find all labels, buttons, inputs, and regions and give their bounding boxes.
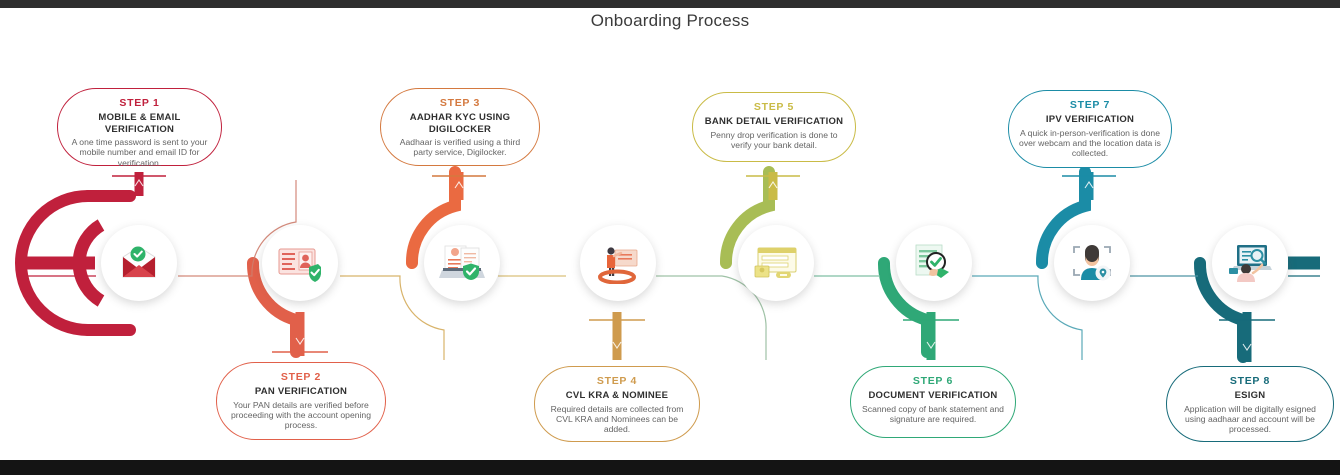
- step-title: MOBILE & EMAIL VERIFICATION: [68, 112, 211, 135]
- bottom-dark-bar: [0, 460, 1340, 475]
- step-label: STEP 4: [545, 375, 689, 387]
- step-callout-8[interactable]: STEP 8 ESIGN Application will be digital…: [1166, 366, 1334, 442]
- step-icon-2[interactable]: [262, 225, 338, 301]
- step-callout-6[interactable]: STEP 6 DOCUMENT VERIFICATION Scanned cop…: [850, 366, 1016, 438]
- step-callout-1[interactable]: STEP 1 MOBILE & EMAIL VERIFICATION A one…: [57, 88, 222, 166]
- step-callout-2[interactable]: STEP 2 PAN VERIFICATION Your PAN details…: [216, 362, 386, 440]
- step-title: AADHAR KYC USING DIGILOCKER: [391, 112, 529, 135]
- step-description: Aadhaar is verified using a third party …: [391, 137, 529, 158]
- step-icon-6[interactable]: [896, 225, 972, 301]
- step-description: Scanned copy of bank statement and signa…: [861, 404, 1005, 425]
- step-title: CVL KRA & NOMINEE: [545, 390, 689, 402]
- step-label: STEP 2: [227, 371, 375, 383]
- face-scan-location-icon: [1069, 242, 1115, 284]
- laptop-esign-search-icon: [1226, 242, 1274, 284]
- bank-form-icon: [752, 244, 800, 282]
- step-icon-3[interactable]: [424, 225, 500, 301]
- step-title: DOCUMENT VERIFICATION: [861, 390, 1005, 402]
- step-callout-4[interactable]: STEP 4 CVL KRA & NOMINEE Required detail…: [534, 366, 700, 442]
- step-title: ESIGN: [1177, 390, 1323, 402]
- envelope-check-icon: [117, 243, 161, 283]
- step-label: STEP 7: [1019, 99, 1161, 111]
- step-callout-5[interactable]: STEP 5 BANK DETAIL VERIFICATION Penny dr…: [692, 92, 856, 162]
- step-description: A one time password is sent to your mobi…: [68, 137, 211, 168]
- laptop-document-shield-icon: [437, 242, 487, 284]
- step-title: IPV VERIFICATION: [1019, 114, 1161, 126]
- step-icon-8[interactable]: [1212, 225, 1288, 301]
- step-icon-7[interactable]: [1054, 225, 1130, 301]
- step-label: STEP 1: [68, 97, 211, 109]
- step-description: Application will be digitally esigned us…: [1177, 404, 1323, 435]
- step-callout-7[interactable]: STEP 7 IPV VERIFICATION A quick in-perso…: [1008, 90, 1172, 168]
- step-title: BANK DETAIL VERIFICATION: [703, 116, 845, 128]
- step-icon-1[interactable]: [101, 225, 177, 301]
- id-card-shield-icon: [276, 243, 324, 283]
- step-description: Required details are collected from CVL …: [545, 404, 689, 435]
- document-check-sign-icon: [911, 242, 957, 284]
- step-label: STEP 3: [391, 97, 529, 109]
- step-label: STEP 5: [703, 101, 845, 113]
- step-description: A quick in-person-verification is done o…: [1019, 128, 1161, 159]
- step-label: STEP 6: [861, 375, 1005, 387]
- person-presentation-icon: [594, 242, 642, 284]
- step-icon-4[interactable]: [580, 225, 656, 301]
- step-icon-5[interactable]: [738, 225, 814, 301]
- step-description: Your PAN details are verified before pro…: [227, 400, 375, 431]
- step-label: STEP 8: [1177, 375, 1323, 387]
- step-title: PAN VERIFICATION: [227, 386, 375, 398]
- step-description: Penny drop verification is done to verif…: [703, 130, 845, 151]
- step-callout-3[interactable]: STEP 3 AADHAR KYC USING DIGILOCKER Aadha…: [380, 88, 540, 166]
